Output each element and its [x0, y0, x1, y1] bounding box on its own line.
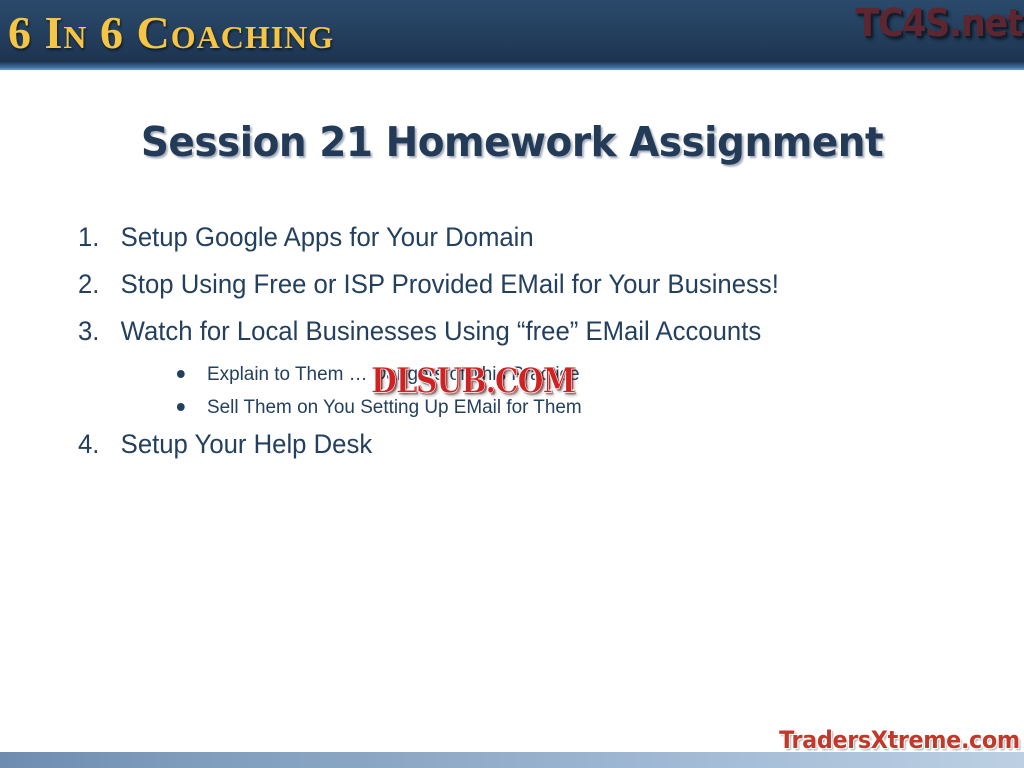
tradersxtreme-footer-logo: TradersXtreme.com	[779, 726, 1020, 754]
brand-title: 6 In 6 Coaching	[8, 6, 334, 59]
page-title: Session 21 Homework Assignment	[26, 118, 999, 166]
list-item: 2. Stop Using Free or ISP Provided EMail…	[78, 269, 932, 316]
list-item-number: 3.	[78, 316, 121, 347]
slide-header-band: 6 In 6 Coaching TC4S.net	[0, 0, 1024, 70]
list-item-number: 2.	[78, 269, 121, 300]
list-item: 4. Setup Your Help Desk	[78, 429, 932, 476]
homework-assignment-list: 1. Setup Google Apps for Your Domain 2. …	[78, 222, 958, 476]
list-item-label: Setup Google Apps for Your Domain	[121, 222, 534, 253]
tc4s-site-logo: TC4S.net	[855, 1, 1022, 45]
slide-footer-band	[0, 752, 1024, 768]
sub-list-item: Sell Them on You Setting Up EMail for Th…	[78, 396, 932, 429]
sub-list-item-label: Explain to Them … Dangers of This Practi…	[207, 363, 580, 386]
sub-list-item: Explain to Them … Dangers of This Practi…	[78, 363, 932, 396]
list-item-number: 4.	[78, 429, 121, 460]
list-item-label: Watch for Local Businesses Using “free” …	[121, 316, 762, 347]
list-item-number: 1.	[78, 222, 121, 253]
list-item: 1. Setup Google Apps for Your Domain	[78, 222, 932, 269]
presentation-slide: 6 In 6 Coaching TC4S.net Session 21 Home…	[0, 0, 1024, 768]
list-item-label: Setup Your Help Desk	[121, 429, 373, 460]
list-item-label: Stop Using Free or ISP Provided EMail fo…	[121, 269, 779, 300]
sub-list-item-label: Sell Them on You Setting Up EMail for Th…	[207, 396, 582, 419]
list-item: 3. Watch for Local Businesses Using “fre…	[78, 316, 932, 363]
